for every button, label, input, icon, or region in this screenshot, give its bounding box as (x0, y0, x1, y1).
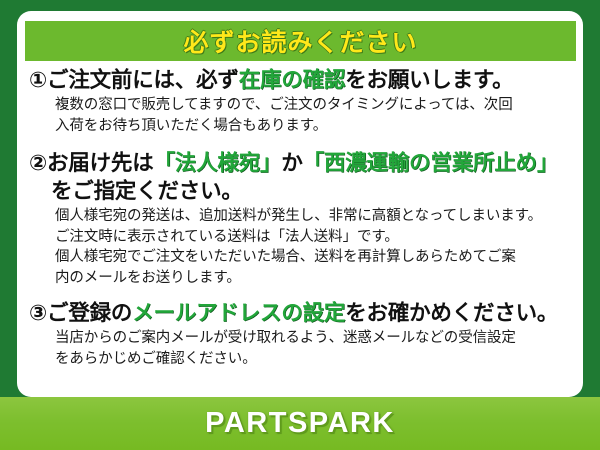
notice-item-1-heading-highlight: 在庫の確認 (239, 68, 346, 92)
notice-item-3: ③ご登録のメールアドレスの設定をお確かめください。 当店からのご案内メールが受け… (17, 300, 583, 369)
notice-item-2-heading-highlight-2: 「西濃運輸の営業所止め」 (303, 151, 559, 175)
notice-item-3-heading-before: ご登録の (47, 301, 132, 325)
notice-item-2-body-line-3: 個人様宅宛でご注文をいただいた場合、送料を再計算しあらためてご案 (55, 247, 573, 268)
banner-title: 必ずお読みください (183, 23, 417, 59)
notice-items-list: ①ご注文前には、必ず在庫の確認をお願いします。 複数の窓口で販売してますので、ご… (17, 67, 583, 369)
notice-item-3-body-line-1: 当店からのご案内メールが受け取れるよう、迷惑メールなどの受信設定 (55, 328, 573, 349)
notice-item-1-marker: ① (29, 68, 47, 92)
notice-item-2-body-line-4: 内のメールをお送りします。 (55, 268, 573, 289)
notice-item-2-body: 個人様宅宛の発送は、追加送料が発生し、非常に高額となってしまいます。 ご注文時に… (29, 206, 573, 288)
notice-item-2-marker: ② (29, 151, 47, 175)
notice-item-3-heading-highlight: メールアドレスの設定 (132, 301, 345, 325)
notice-item-3-marker: ③ (29, 301, 47, 325)
notice-item-1-heading-after: をお願いします。 (345, 68, 513, 92)
notice-item-2-heading-highlight: 「法人様宛」 (154, 151, 282, 175)
notice-item-1-body-line-2: 入荷をお待ち頂いただく場合もあります。 (55, 116, 573, 137)
title-banner: 必ずお読みください (25, 21, 576, 61)
brand-logo-text: PARTSPARK (205, 407, 395, 440)
notice-item-1-heading: ①ご注文前には、必ず在庫の確認をお願いします。 (29, 67, 573, 95)
notice-card: 必ずお読みください ①ご注文前には、必ず在庫の確認をお願いします。 複数の窓口で… (0, 0, 600, 450)
notice-item-2: ②お届け先は「法人様宛」か「西濃運輸の営業所止め」 をご指定ください。 個人様宅… (17, 150, 583, 288)
notice-item-1: ①ご注文前には、必ず在庫の確認をお願いします。 複数の窓口で販売してますので、ご… (17, 67, 583, 136)
notice-item-2-heading-middle: か (281, 151, 302, 175)
notice-item-3-body-line-2: をあらかじめご確認ください。 (55, 349, 573, 370)
notice-item-2-body-line-2: ご注文時に表示されている送料は「法人送料」です。 (55, 227, 573, 248)
notice-item-2-heading-before: お届け先は (47, 151, 154, 175)
notice-item-3-heading: ③ご登録のメールアドレスの設定をお確かめください。 (29, 300, 573, 328)
notice-item-1-heading-before: ご注文前には、必ず (47, 68, 239, 92)
white-content-panel: 必ずお読みください ①ご注文前には、必ず在庫の確認をお願いします。 複数の窓口で… (17, 11, 583, 397)
notice-item-2-body-line-1: 個人様宅宛の発送は、追加送料が発生し、非常に高額となってしまいます。 (55, 206, 573, 227)
notice-item-1-body-line-1: 複数の窓口で販売してますので、ご注文のタイミングによっては、次回 (55, 95, 573, 116)
notice-item-3-body: 当店からのご案内メールが受け取れるよう、迷惑メールなどの受信設定 をあらかじめご… (29, 328, 573, 369)
notice-item-2-heading-line-2: をご指定ください。 (29, 178, 573, 206)
notice-item-3-heading-after: をお確かめください。 (345, 301, 558, 325)
footer-brand-band: PARTSPARK (0, 397, 600, 450)
notice-item-1-body: 複数の窓口で販売してますので、ご注文のタイミングによっては、次回 入荷をお待ち頂… (29, 95, 573, 136)
notice-item-2-heading: ②お届け先は「法人様宛」か「西濃運輸の営業所止め」 (29, 150, 573, 178)
